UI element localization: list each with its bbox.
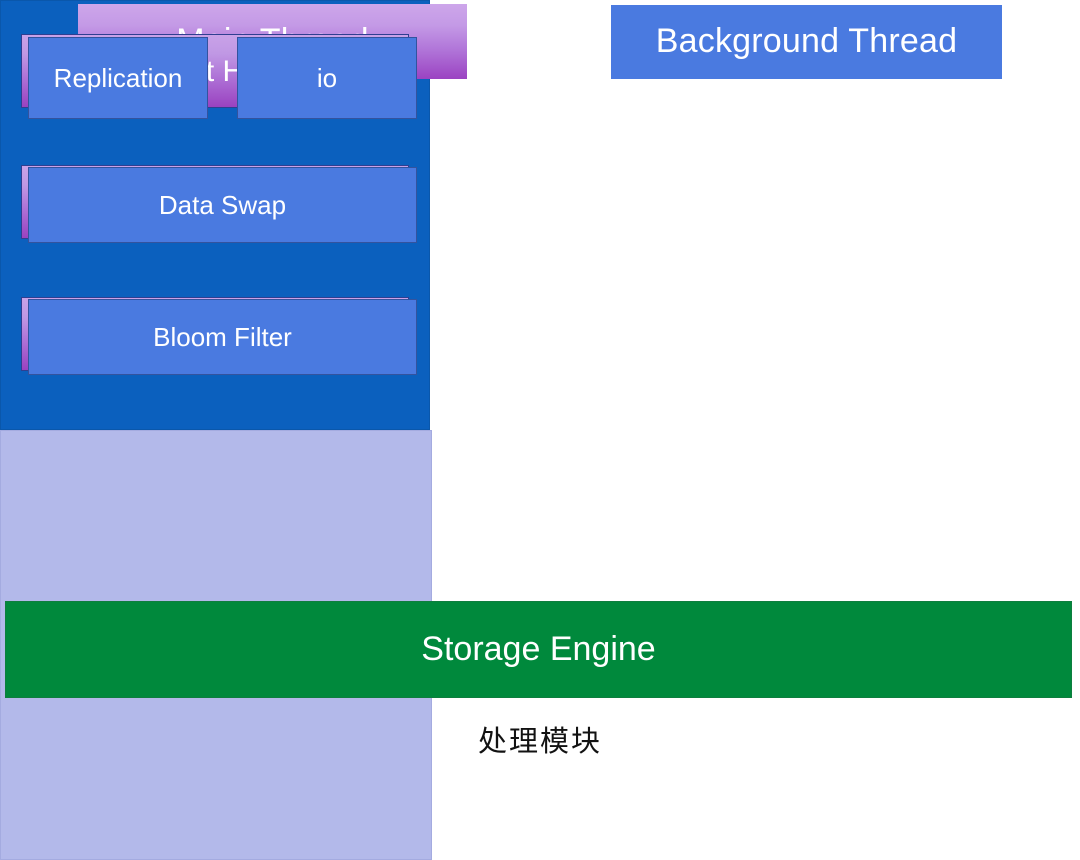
background-thread-item-io: io	[237, 37, 417, 119]
background-thread-item-data-swap: Data Swap	[28, 167, 417, 243]
background-thread-item-bloom-filter-label: Bloom Filter	[153, 323, 292, 352]
background-thread-header: Background Thread	[611, 5, 1002, 79]
background-thread-item-bloom-filter: Bloom Filter	[28, 299, 417, 375]
background-thread-header-label: Background Thread	[656, 23, 957, 60]
diagram-caption: 处理模块	[0, 718, 1080, 760]
background-thread-item-data-swap-label: Data Swap	[159, 191, 286, 220]
background-thread-item-replication: Replication	[28, 37, 208, 119]
background-thread-item-io-label: io	[317, 64, 337, 93]
background-thread-item-replication-label: Replication	[54, 64, 183, 93]
storage-engine-label: Storage Engine	[421, 631, 655, 668]
storage-engine-bar: Storage Engine	[5, 601, 1072, 698]
processing-module-diagram: Main Thread Background Thread Connect Ha…	[0, 0, 1080, 790]
